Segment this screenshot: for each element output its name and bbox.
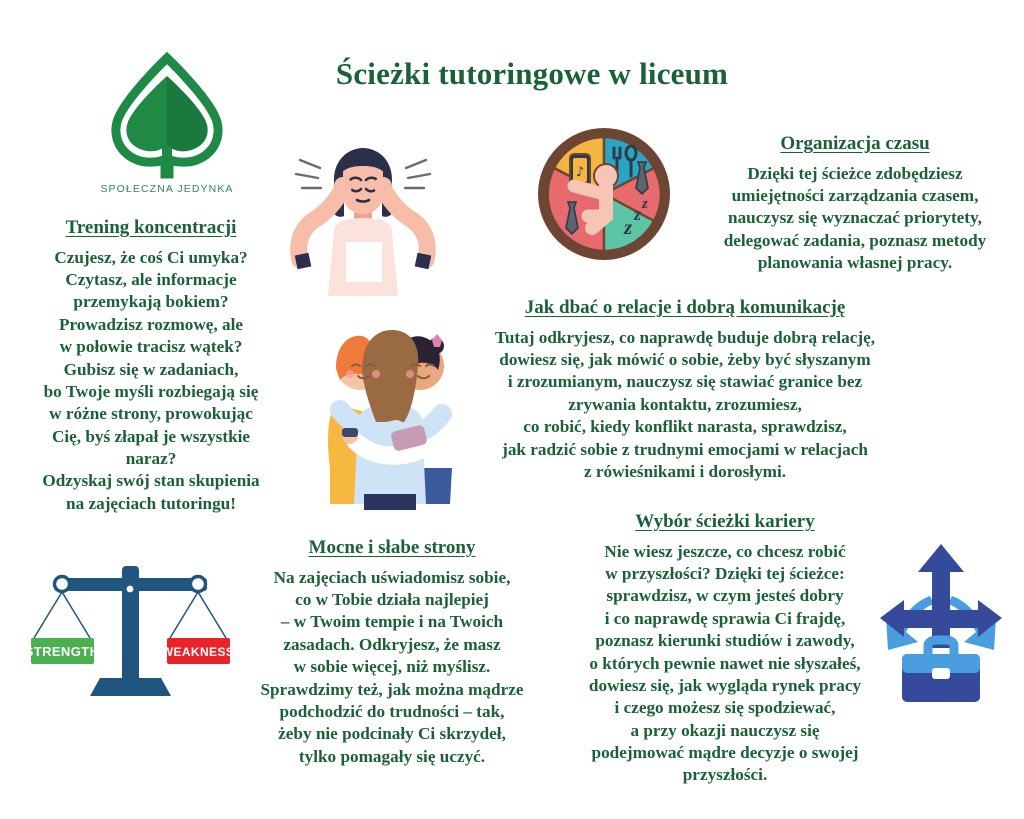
section-strengths-weaknesses-body: Na zajęciach uświadomisz sobie,co w Tobi… (232, 567, 552, 768)
text-line: sprawdzisz, w czym jesteś dobry (560, 585, 890, 607)
text-line: Nie wiesz jeszcze, co chcesz robić (560, 541, 890, 563)
text-line: w przyszłości? Dzięki tej ścieżce: (560, 563, 890, 585)
text-line: a przy okazji nauczysz się (560, 720, 890, 742)
text-line: nauczysz się wyznaczać priorytety, (700, 207, 1010, 229)
text-line: w sobie więcej, niż myślisz. (232, 656, 552, 678)
text-line: Cię, byś złapał je wszystkie (16, 426, 286, 448)
text-line: podchodzić do trudności – tak, (232, 701, 552, 723)
text-line: i czego możesz się spodziewać, (560, 697, 890, 719)
text-line: umiejętności zarządzania czasem, (700, 185, 1010, 207)
text-line: podejmować mądre decyzje o swojej (560, 742, 890, 764)
briefcase-with-arrows-icon (878, 538, 1004, 709)
text-line: delegować zadania, poznasz metody (700, 230, 1010, 252)
section-concentration: Trening koncentracji Czujesz, że coś Ci … (16, 216, 286, 515)
strength-label: STRENGTH (28, 644, 99, 659)
section-career-path-body: Nie wiesz jeszcze, co chcesz robićw przy… (560, 541, 890, 787)
logo-caption: SPOŁECZNA JEDYNKA (72, 183, 262, 195)
life-balance-pie-clock-icon: ♪ z z z (534, 124, 674, 269)
text-line: naraz? (16, 448, 286, 470)
text-line: zasadach. Odkryjesz, że masz (232, 634, 552, 656)
text-line: i co naprawdę sprawia Ci frajdę, (560, 608, 890, 630)
section-relations-heading: Jak dbać o relacje i dobrą komunikację (470, 296, 900, 320)
text-line: tylko pomagały się uczyć. (232, 746, 552, 768)
section-relations: Jak dbać o relacje i dobrą komunikację T… (470, 296, 900, 483)
weakness-label: WEAKNESS (162, 645, 233, 659)
page-title: Ścieżki tutoringowe w liceum (0, 56, 1024, 92)
text-line: Na zajęciach uświadomisz sobie, (232, 567, 552, 589)
section-strengths-weaknesses-heading: Mocne i słabe strony (232, 536, 552, 560)
text-line: i zrozumianym, nauczysz się stawiać gran… (470, 371, 900, 393)
text-line: przemykają bokiem? (16, 291, 286, 313)
people-hugging-illustration (300, 318, 480, 515)
svg-text:z: z (633, 204, 641, 224)
text-line: w różne strony, prowokując (16, 403, 286, 425)
text-line: dowiesz się, jak wygląda rynek pracy (560, 675, 890, 697)
svg-text:z: z (641, 196, 648, 212)
text-line: Tutaj odkryjesz, co naprawdę buduje dobr… (470, 327, 900, 349)
text-line: o których pewnie nawet nie słyszałeś, (560, 653, 890, 675)
text-line: żeby nie podcinały Ci skrzydeł, (232, 723, 552, 745)
section-strengths-weaknesses: Mocne i słabe strony Na zajęciach uświad… (232, 536, 552, 768)
text-line: co w Tobie działa najlepiej (232, 589, 552, 611)
section-time-management: Organizacja czasu Dzięki tej ścieżce zdo… (700, 132, 1010, 275)
text-line: – w Twoim tempie i na Twoich (232, 611, 552, 633)
section-time-management-heading: Organizacja czasu (700, 132, 1010, 156)
text-line: dowiesz się, jak mówić o sobie, żeby być… (470, 349, 900, 371)
text-line: zrywania kontaktu, zrozumiesz, (470, 394, 900, 416)
section-concentration-heading: Trening koncentracji (16, 216, 286, 240)
section-relations-body: Tutaj odkryjesz, co naprawdę buduje dobr… (470, 327, 900, 484)
text-line: planowania własnej pracy. (700, 252, 1010, 274)
text-line: Prowadzisz rozmowę, ale (16, 314, 286, 336)
balance-scale-illustration: STRENGTH WEAKNESS (28, 556, 233, 707)
text-line: Gubisz się w zadaniach, (16, 359, 286, 381)
section-concentration-body: Czujesz, że coś Ci umyka?Czytasz, ale in… (16, 247, 286, 515)
text-line: Czytasz, ale informacje (16, 269, 286, 291)
infographic-canvas: SPOŁECZNA JEDYNKA Ścieżki tutoringowe w … (0, 0, 1024, 819)
person-concentrating-illustration (288, 136, 438, 306)
text-line: bo Twoje myśli rozbiegają się (16, 381, 286, 403)
text-line: Dzięki tej ścieżce zdobędziesz (700, 163, 1010, 185)
text-line: poznasz kierunki studiów i zawody, (560, 630, 890, 652)
text-line: w połowie tracisz wątek? (16, 336, 286, 358)
svg-text:♪: ♪ (576, 165, 584, 180)
section-time-management-body: Dzięki tej ścieżce zdobędzieszumiejętnoś… (700, 163, 1010, 275)
text-line: na zajęciach tutoringu! (16, 493, 286, 515)
text-line: przyszłości. (560, 764, 890, 786)
text-line: Czujesz, że coś Ci umyka? (16, 247, 286, 269)
section-career-path: Wybór ścieżki kariery Nie wiesz jeszcze,… (560, 510, 890, 787)
text-line: Sprawdzimy też, jak można mądrze (232, 679, 552, 701)
svg-text:z: z (623, 215, 633, 239)
text-line: jak radzić sobie z trudnymi emocjami w r… (470, 439, 900, 461)
section-career-path-heading: Wybór ścieżki kariery (560, 510, 890, 534)
text-line: co robić, kiedy konflikt narasta, sprawd… (470, 416, 900, 438)
text-line: z rówieśnikami i dorosłymi. (470, 461, 900, 483)
text-line: Odzyskaj swój stan skupienia (16, 470, 286, 492)
